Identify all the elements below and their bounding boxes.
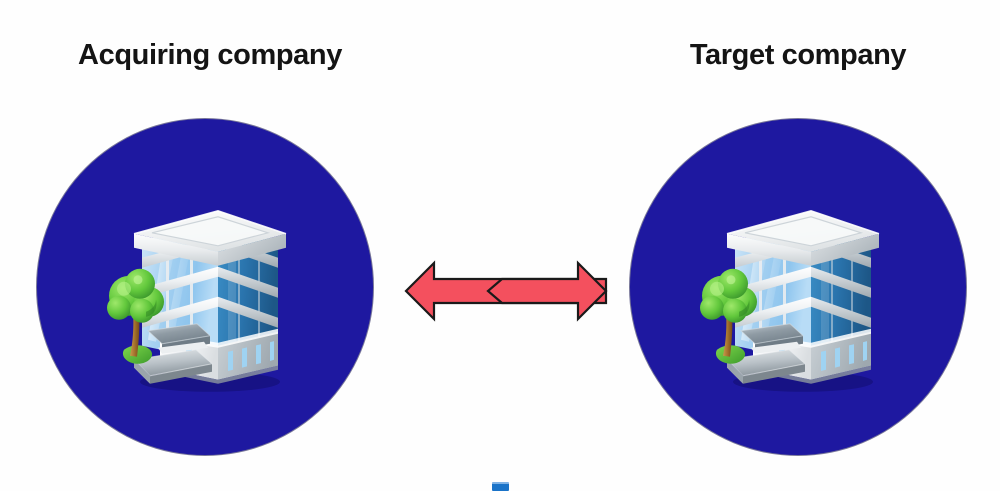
clipped-element-sliver	[492, 482, 509, 491]
double-headed-arrow-icon	[402, 255, 610, 327]
target-company-title: Target company	[608, 41, 988, 70]
office-building-icon	[693, 184, 903, 399]
diagram-canvas: Acquiring company Target company	[0, 0, 1000, 489]
target-company-node[interactable]	[630, 119, 966, 455]
acquiring-company-node[interactable]	[37, 119, 373, 455]
office-building-icon	[100, 184, 310, 399]
acquiring-company-title: Acquiring company	[0, 41, 420, 70]
